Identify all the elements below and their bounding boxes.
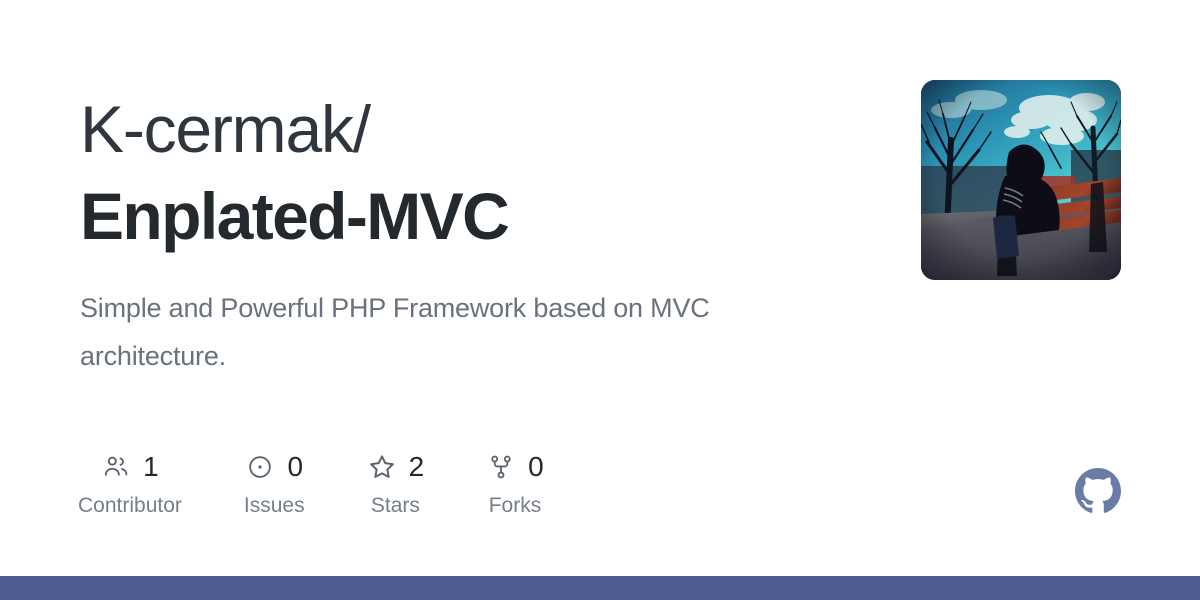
fork-icon [486,452,516,482]
repository-name: Enplated-MVC [80,179,508,253]
stat-contributors-value: 1 [143,452,159,482]
repository-stats: 1 Contributor 0 Issues [78,450,544,519]
stat-forks-top: 0 [486,450,544,484]
stat-stars-value: 2 [409,452,425,482]
stat-stars-top: 2 [367,450,425,484]
issue-opened-icon [245,452,275,482]
stat-contributors-label: Contributor [78,493,182,519]
stat-forks-value: 0 [528,452,544,482]
stat-contributors: 1 Contributor [78,450,182,519]
stat-forks-label: Forks [489,493,542,519]
stat-issues-top: 0 [245,450,303,484]
star-icon [367,452,397,482]
stat-issues: 0 Issues [244,450,305,519]
github-mark-icon [1075,468,1121,514]
stat-forks: 0 Forks [486,450,544,519]
stat-stars-label: Stars [371,493,420,519]
repository-description: Simple and Powerful PHP Framework based … [80,260,810,380]
repository-owner: K-cermak/ [80,92,370,166]
page-title: K-cermak/ Enplated-MVC [80,86,880,260]
stat-contributors-top: 1 [101,450,159,484]
stat-stars: 2 Stars [367,450,425,519]
repository-info: K-cermak/ Enplated-MVC Simple and Powerf… [80,86,880,380]
people-icon [101,452,131,482]
stat-issues-label: Issues [244,493,305,519]
owner-avatar [921,80,1121,280]
stat-issues-value: 0 [287,452,303,482]
bottom-accent-bar [0,576,1200,600]
repository-social-preview-card: K-cermak/ Enplated-MVC Simple and Powerf… [0,0,1200,576]
